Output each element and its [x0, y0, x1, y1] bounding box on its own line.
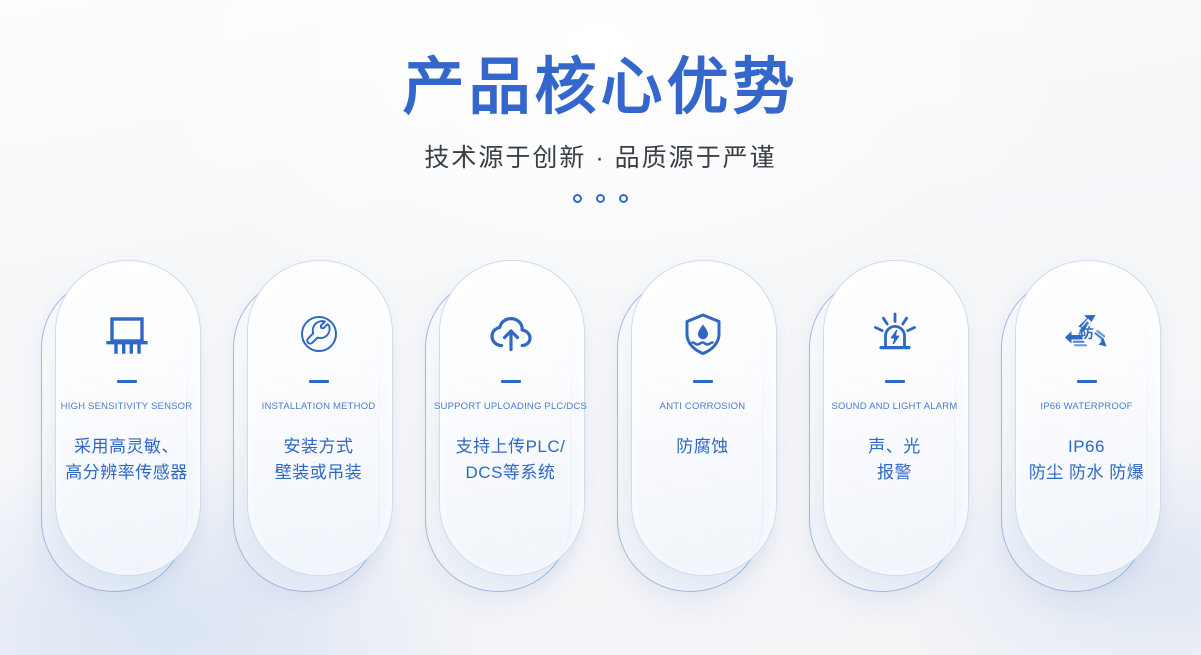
sensor-chip-icon: [104, 306, 150, 362]
card-en-label: INSTALLATION METHOD: [262, 401, 376, 412]
page-title: 产品核心优势: [0, 55, 1201, 120]
card-cn-text: 支持上传PLC/ DCS等系统: [456, 434, 566, 485]
dot-2: [596, 194, 605, 203]
card-cn-text: 安装方式 壁装或吊装: [275, 434, 363, 485]
feature-card-list: HIGH SENSITIVITY SENSOR 采用高灵敏、 高分辨率传感器 I…: [0, 268, 1201, 598]
recycle-icon-center-text: 防: [1080, 325, 1094, 341]
shield-droplet-icon: [682, 306, 724, 362]
feature-card-high-sensitivity-sensor[interactable]: HIGH SENSITIVITY SENSOR 采用高灵敏、 高分辨率传感器: [49, 268, 193, 582]
divider-dash: [309, 380, 329, 383]
feature-card-ip66-waterproof[interactable]: 防 IP66 WATERPROOF IP66 防尘 防水 防爆: [1009, 268, 1153, 582]
wrench-circle-icon: [296, 306, 342, 362]
recycle-protect-icon: 防: [1062, 306, 1112, 362]
card-cn-text: 采用高灵敏、 高分辨率传感器: [65, 434, 188, 485]
dot-3: [619, 194, 628, 203]
divider-dash: [693, 380, 713, 383]
card-cn-text: 声、光 报警: [868, 434, 921, 485]
card-cn-text: IP66 防尘 防水 防爆: [1029, 434, 1144, 485]
card-en-label: HIGH SENSITIVITY SENSOR: [61, 401, 193, 412]
card-en-label: SOUND AND LIGHT ALARM: [832, 401, 958, 412]
feature-card-anti-corrosion[interactable]: ANTI CORROSION 防腐蚀: [625, 268, 769, 582]
card-en-label: ANTI CORROSION: [660, 401, 746, 412]
dot-1: [573, 194, 582, 203]
page-header: 产品核心优势 技术源于创新 · 品质源于严谨: [0, 0, 1201, 203]
card-en-label: IP66 WATERPROOF: [1040, 401, 1132, 412]
feature-card-support-uploading[interactable]: SUPPORT UPLOADING PLC/DCS 支持上传PLC/ DCS等系…: [433, 268, 577, 582]
alarm-siren-icon: [870, 306, 920, 362]
card-cn-text: 防腐蚀: [676, 434, 729, 460]
page-subtitle: 技术源于创新 · 品质源于严谨: [0, 138, 1201, 174]
decorative-dots: [0, 194, 1201, 203]
divider-dash: [117, 380, 137, 383]
cloud-upload-icon: [487, 306, 535, 362]
card-en-label: SUPPORT UPLOADING PLC/DCS: [434, 401, 587, 412]
divider-dash: [501, 380, 521, 383]
feature-card-installation-method[interactable]: INSTALLATION METHOD 安装方式 壁装或吊装: [241, 268, 385, 582]
divider-dash: [1077, 380, 1097, 383]
divider-dash: [885, 380, 905, 383]
feature-card-sound-light-alarm[interactable]: SOUND AND LIGHT ALARM 声、光 报警: [817, 268, 961, 582]
